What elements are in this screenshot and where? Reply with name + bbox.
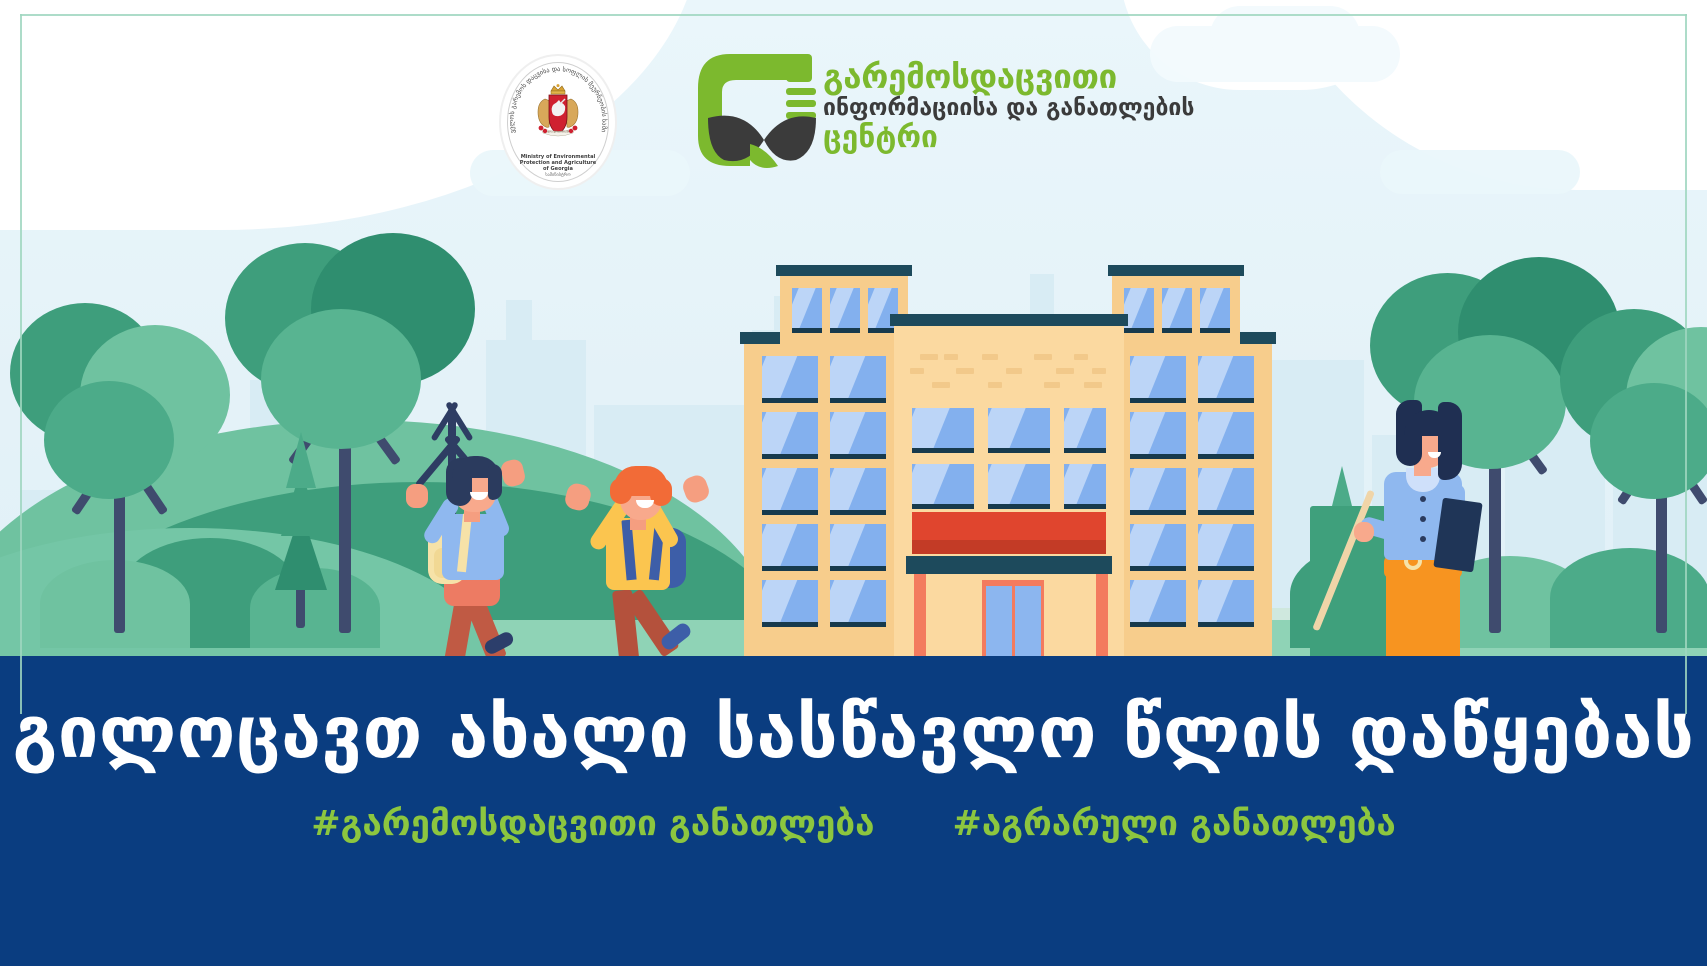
hashtag-row: #გარემოსდაცვითი განათლება #აგრარული განა… [0, 804, 1707, 844]
child-waving-right [562, 457, 732, 672]
new-school-year-banner: საქართველოს გარემოს დაცვისა და სოფლის მე… [0, 0, 1707, 966]
school-building [744, 264, 1272, 666]
pine-tree [255, 398, 345, 628]
hashtag-agricultural-education: #აგრარული განათლება [953, 804, 1396, 844]
teacher [1310, 388, 1490, 688]
logo-row: საქართველოს გარემოს დაცვისა და სოფლის მე… [0, 44, 1707, 184]
child-waving-left [398, 448, 558, 668]
hashtag-environmental-education: #გარემოსდაცვითი განათლება [311, 804, 874, 844]
coat-of-arms-icon: ძალა ერთობაშია [527, 83, 589, 143]
footer-band: გილოცავთ ახალი სასწავლო წლის დაწყებას #გ… [0, 656, 1707, 966]
emblem-english-text: Ministry of Environmental Protection and… [501, 154, 615, 179]
center-logo-text: გარემოსდაცვითი ინფორმაციისა და განათლები… [823, 60, 1194, 154]
page-title: გილოცავთ ახალი სასწავლო წლის დაწყებას [0, 690, 1707, 774]
center-logo-line1: გარემოსდაცვითი [823, 60, 1194, 94]
svg-text:ძალა ერთობაშია: ძალა ერთობაშია [544, 130, 572, 134]
frame-line-top [20, 14, 1687, 16]
tree [10, 303, 230, 633]
center-logo-line3: ცენტრი [823, 122, 1194, 154]
center-logo-line2: ინფორმაციისა და განათლების [823, 94, 1194, 122]
center-logo: გარემოსდაცვითი ინფორმაციისა და განათლები… [690, 44, 1120, 174]
ministry-emblem: საქართველოს გარემოს დაცვისა და სოფლის მე… [499, 54, 617, 190]
frame-line-right [1685, 14, 1687, 714]
open-book-leaf-logo-icon [690, 48, 820, 170]
folder [1433, 498, 1482, 573]
frame-line-left [20, 14, 22, 714]
